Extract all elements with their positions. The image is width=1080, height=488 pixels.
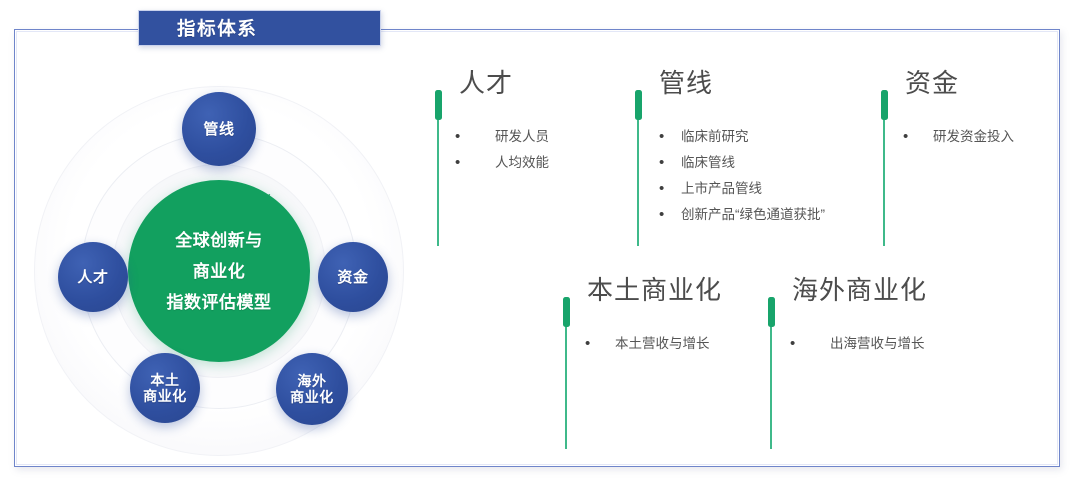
- column-rule-cap-local: [563, 297, 570, 327]
- column-rule-cap-talent: [435, 90, 442, 120]
- column-heading-funds: 资金: [905, 68, 959, 98]
- list-item: • 创新产品“绿色通道获批”: [659, 202, 825, 228]
- list-item-text: 出海营收与增长: [830, 331, 925, 357]
- list-item-text: 创新产品“绿色通道获批”: [681, 202, 825, 228]
- column-list-pipeline: • 临床前研究 • 临床管线 • 上市产品管线 • 创新产品“绿色通道获批”: [659, 124, 825, 228]
- node-pipeline[interactable]: 管线: [182, 92, 256, 166]
- slide-canvas: 指标体系 全球创新竞争力 商业化持续发展力 全球创新与 商业化 指数评估模型 管…: [0, 0, 1080, 488]
- column-heading-talent: 人才: [459, 68, 513, 98]
- core-line-1: 全球创新与: [175, 225, 263, 256]
- bullet-icon: •: [659, 176, 677, 202]
- node-overseas-label-1: 海外: [297, 373, 326, 389]
- column-list-funds: • 研发资金投入: [903, 124, 1014, 150]
- node-funds-label: 资金: [337, 269, 368, 286]
- column-list-local: • 本土营收与增长: [585, 331, 710, 357]
- column-heading-pipeline: 管线: [659, 68, 713, 98]
- circular-model-diagram: 全球创新竞争力 商业化持续发展力 全球创新与 商业化 指数评估模型 管线 人才 …: [22, 70, 422, 462]
- node-overseas-commercialization[interactable]: 海外 商业化: [276, 353, 348, 425]
- list-item: • 本土营收与增长: [585, 331, 710, 357]
- node-local-label-1: 本土: [150, 372, 179, 388]
- list-item-text: 研发人员: [495, 124, 549, 150]
- list-item: • 人均效能: [455, 150, 549, 176]
- model-core: 全球创新与 商业化 指数评估模型: [128, 180, 310, 362]
- list-item: • 临床前研究: [659, 124, 825, 150]
- core-line-2: 商业化: [193, 256, 246, 287]
- bullet-icon: •: [790, 331, 808, 357]
- list-item: • 研发人员: [455, 124, 549, 150]
- bullet-icon: •: [659, 202, 677, 228]
- list-item-text: 人均效能: [495, 150, 549, 176]
- list-item: • 出海营收与增长: [790, 331, 925, 357]
- bullet-icon: •: [455, 124, 473, 150]
- bullet-icon: •: [659, 124, 677, 150]
- list-item-text: 研发资金投入: [933, 124, 1014, 150]
- node-talent-label: 人才: [77, 269, 108, 286]
- column-list-talent: • 研发人员 • 人均效能: [455, 124, 549, 176]
- list-item-text: 临床前研究: [681, 124, 749, 150]
- column-heading-overseas: 海外商业化: [792, 275, 927, 305]
- column-rule-cap-funds: [881, 90, 888, 120]
- node-funds[interactable]: 资金: [318, 242, 388, 312]
- core-line-3: 指数评估模型: [167, 287, 272, 318]
- list-item-text: 本土营收与增长: [615, 331, 710, 357]
- column-list-overseas: • 出海营收与增长: [790, 331, 925, 357]
- list-item-text: 临床管线: [681, 150, 735, 176]
- bullet-icon: •: [659, 150, 677, 176]
- section-title-text: 指标体系: [177, 15, 257, 41]
- bullet-icon: •: [903, 124, 921, 150]
- list-item: • 临床管线: [659, 150, 825, 176]
- bullet-icon: •: [585, 331, 603, 357]
- bullet-icon: •: [455, 150, 473, 176]
- list-item-text: 上市产品管线: [681, 176, 762, 202]
- node-local-commercialization[interactable]: 本土 商业化: [130, 353, 200, 423]
- node-talent[interactable]: 人才: [58, 242, 128, 312]
- column-rule-cap-overseas: [768, 297, 775, 327]
- column-heading-local: 本土商业化: [587, 275, 722, 305]
- node-overseas-label-2: 商业化: [290, 389, 334, 405]
- section-title-bar: 指标体系: [138, 10, 381, 46]
- list-item: • 研发资金投入: [903, 124, 1014, 150]
- list-item: • 上市产品管线: [659, 176, 825, 202]
- node-pipeline-label: 管线: [203, 121, 234, 138]
- node-local-label-2: 商业化: [143, 388, 187, 404]
- column-rule-cap-pipeline: [635, 90, 642, 120]
